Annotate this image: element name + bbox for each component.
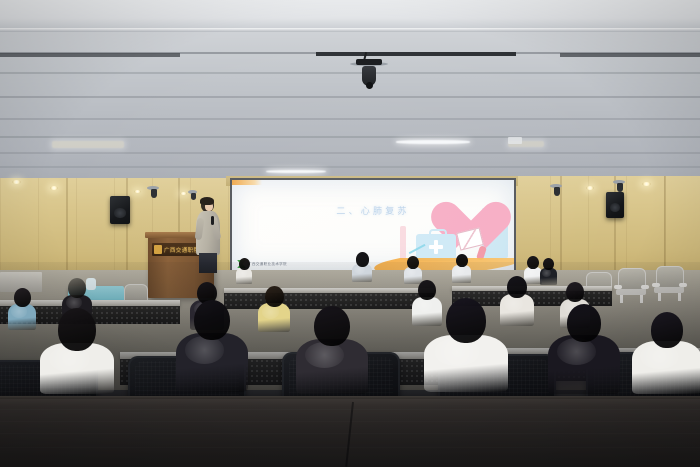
ceiling-light-strip xyxy=(396,140,470,144)
attendee-head xyxy=(507,276,527,298)
ceiling-seam xyxy=(0,136,700,138)
attendee-highlight xyxy=(238,269,247,277)
attendee-head xyxy=(194,300,230,340)
attendee xyxy=(352,252,372,282)
attendee xyxy=(540,258,557,285)
downlight xyxy=(180,192,187,195)
attendee-head xyxy=(456,254,468,267)
lecture-hall-photo: 二、心肺复苏 广 xyxy=(0,0,700,467)
bar-decoration xyxy=(400,226,406,260)
ceiling-light-panel xyxy=(52,141,124,148)
microphone-icon xyxy=(211,216,214,225)
wall-speaker xyxy=(110,196,130,224)
ceiling-recess xyxy=(560,53,700,57)
lectern-sign-text: 广西交通职院 xyxy=(164,246,199,254)
ceiling-soffit xyxy=(0,0,700,30)
attendee-highlight xyxy=(185,336,225,364)
presenter xyxy=(196,198,222,272)
footer-swoosh-accent xyxy=(373,258,514,270)
ceiling-soffit-lip xyxy=(0,28,700,32)
institution-emblem-icon xyxy=(154,245,162,254)
attendee-head xyxy=(314,306,350,346)
ceiling-seam xyxy=(0,118,700,120)
downlight xyxy=(50,186,58,190)
downlight xyxy=(12,180,21,184)
attendee xyxy=(632,312,700,394)
attendee-highlight xyxy=(262,305,280,319)
attendee xyxy=(8,288,36,330)
attendee xyxy=(296,306,368,394)
attendee-head xyxy=(567,304,601,342)
ceiling-vent xyxy=(508,137,522,144)
attendee xyxy=(176,300,248,392)
attendee-head xyxy=(265,286,284,307)
attendee-highlight xyxy=(640,344,679,369)
presenter-hair xyxy=(200,197,214,205)
ceiling-seam xyxy=(0,72,700,74)
attendee-head xyxy=(68,278,86,298)
ceiling-seam xyxy=(0,96,700,98)
attendee-head xyxy=(14,288,31,307)
ceiling-recess xyxy=(316,52,516,56)
attendee xyxy=(548,304,620,394)
downlight xyxy=(586,186,594,190)
ceiling xyxy=(0,0,700,182)
attendee-head xyxy=(566,282,584,302)
first-aid-kit-icon xyxy=(416,234,456,260)
ceiling-seam xyxy=(0,166,700,168)
attendee-head xyxy=(446,298,486,343)
presenter-trousers xyxy=(199,253,217,273)
attendee-head xyxy=(58,308,96,351)
projection-screen: 二、心肺复苏 广 xyxy=(230,178,516,272)
attendee-head xyxy=(651,312,683,348)
attendee-head xyxy=(356,252,369,267)
attendee-highlight xyxy=(454,266,464,275)
slide-footer: 广西交通职业技术学院 xyxy=(232,258,514,270)
slide-corner-accent xyxy=(232,180,262,185)
ceiling-light-strip xyxy=(266,170,326,173)
projector-lens xyxy=(366,82,373,89)
attendee xyxy=(236,258,252,284)
ceiling-seam xyxy=(0,152,700,154)
attendee xyxy=(40,308,114,394)
slide-artwork xyxy=(406,204,510,260)
attendee-head xyxy=(239,258,250,270)
attendee xyxy=(452,254,471,283)
projection-screen-surface: 二、心肺复苏 广 xyxy=(232,180,514,270)
wall-speaker xyxy=(606,192,624,218)
downlight xyxy=(134,190,141,193)
attendee-highlight xyxy=(557,338,597,365)
attendee xyxy=(258,286,290,332)
side-chair xyxy=(616,268,646,302)
downlight xyxy=(642,182,651,186)
footer-org-name: 广西交通职业技术学院 xyxy=(248,262,287,267)
attendee-head xyxy=(543,258,554,270)
projector-bracket xyxy=(356,59,382,65)
side-chair xyxy=(654,266,684,300)
attendee xyxy=(424,298,508,392)
ceiling-recess xyxy=(0,53,180,57)
